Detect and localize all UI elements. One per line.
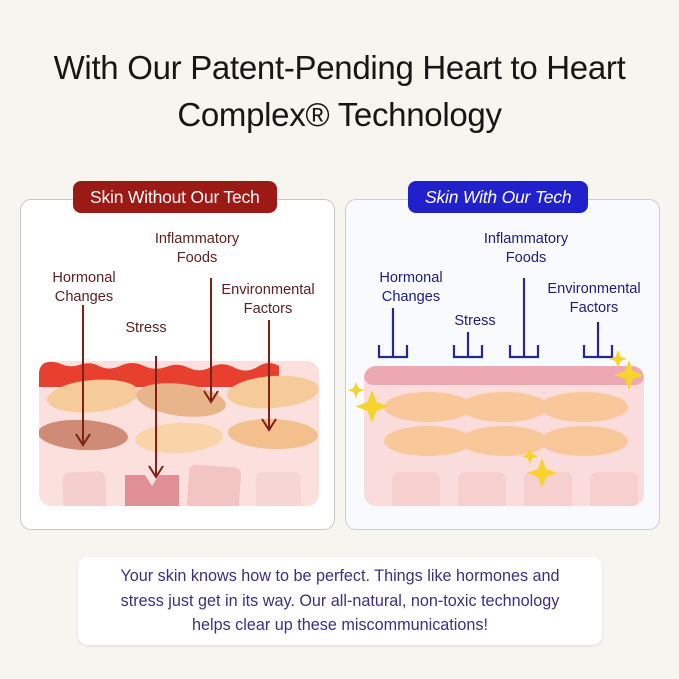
right-oval-cell <box>540 426 628 456</box>
right-skin-surface <box>364 366 644 385</box>
caption-text: Your skin knows how to be perfect. Thing… <box>100 564 580 638</box>
label-hormonal-changes-left: Hormonal Changes <box>38 269 130 306</box>
right-oval-cell <box>384 426 472 456</box>
label-line: Stress <box>454 313 495 329</box>
left-square-cell <box>62 471 106 514</box>
badge-skin-without-tech: Skin Without Our Tech <box>73 181 277 213</box>
left-square-cell <box>186 464 241 514</box>
label-line: Changes <box>55 289 113 305</box>
label-environmental-factors-left: Environmental Factors <box>212 281 324 318</box>
sparkle-icon <box>348 382 364 398</box>
label-line: Environmental <box>547 281 640 297</box>
right-square-cell <box>392 472 440 514</box>
label-line: Hormonal <box>379 270 442 286</box>
right-oval-cell <box>540 392 628 422</box>
right-oval-cell <box>460 392 548 422</box>
page-title: With Our Patent-Pending Heart to Heart C… <box>0 44 679 138</box>
blocked-arrow-hormonal-changes <box>379 308 407 357</box>
label-line: Foods <box>506 250 547 266</box>
blocked-arrow-inflammatory-foods <box>510 278 538 357</box>
label-line: Environmental <box>221 282 314 298</box>
label-line: Inflammatory <box>484 231 568 247</box>
label-inflammatory-foods-right: Inflammatory Foods <box>476 230 576 267</box>
right-oval-cell <box>384 392 472 422</box>
blocked-arrow-stress <box>454 332 482 357</box>
right-square-cell <box>590 472 638 514</box>
label-stress-left: Stress <box>112 319 180 338</box>
right-oval-cell <box>460 426 548 456</box>
label-line: Factors <box>570 300 619 316</box>
label-line: Foods <box>177 250 218 266</box>
label-stress-right: Stress <box>441 312 509 331</box>
label-line: Hormonal <box>52 270 115 286</box>
blocked-arrow-environmental-factors <box>584 322 612 357</box>
label-inflammatory-foods-left: Inflammatory Foods <box>147 230 247 267</box>
right-square-cell <box>524 472 572 514</box>
caption-box: Your skin knows how to be perfect. Thing… <box>78 557 602 645</box>
label-line: Factors <box>244 301 293 317</box>
infographic-root: With Our Patent-Pending Heart to Heart C… <box>0 0 679 679</box>
right-square-cell <box>458 472 506 514</box>
left-square-cell <box>256 472 302 515</box>
label-hormonal-changes-right: Hormonal Changes <box>365 269 457 306</box>
label-line: Stress <box>125 320 166 336</box>
label-environmental-factors-right: Environmental Factors <box>538 280 650 317</box>
label-line: Inflammatory <box>155 231 239 247</box>
badge-skin-with-tech: Skin With Our Tech <box>408 181 588 213</box>
label-line: Changes <box>382 289 440 305</box>
